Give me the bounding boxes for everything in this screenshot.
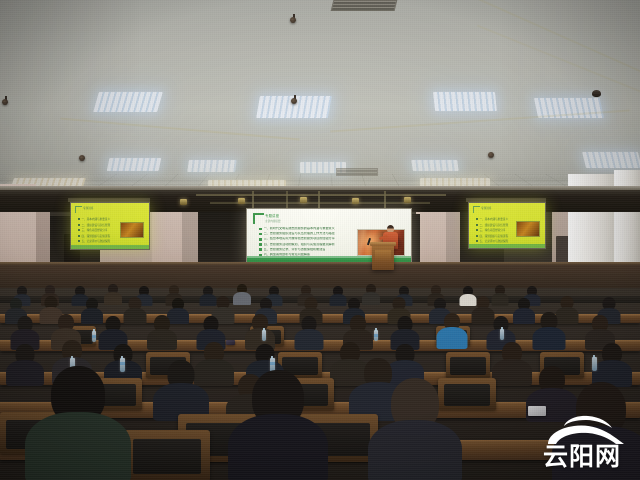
slide-subtitle: 主讲内容提要 [265, 219, 281, 223]
stage-light-fixture [404, 197, 411, 203]
ceiling-air-vent [331, 0, 398, 11]
right-slide-line: 一、基本内涵与重要意义 [480, 217, 509, 221]
ceiling-camera-icon [592, 90, 601, 97]
stage-light-fixture [238, 198, 245, 204]
truss-beam [286, 191, 288, 209]
bullet-marker [476, 224, 478, 226]
slide-bullet: 五、志愿服务记录、评价与激励保障机制建设 [264, 248, 326, 252]
wooden-podium [372, 242, 394, 270]
left-slide-logo-icon [75, 206, 82, 213]
ceiling-light-panel [93, 92, 163, 112]
slide-bullet: 三、结合本地实际开展特色志愿服务项目的经验分享 [264, 237, 335, 241]
audience-member [534, 312, 564, 348]
bullet-marker [476, 229, 478, 231]
bullet-marker [78, 218, 80, 220]
right-slide-footer [469, 244, 545, 248]
left-slide-line: 五、记录评价与激励保障 [82, 239, 111, 243]
bullet-marker [259, 243, 262, 246]
audience-member [362, 284, 379, 304]
right-slide-logo-icon [473, 206, 480, 213]
audience-member [438, 313, 466, 348]
ceiling-rail [60, 118, 299, 141]
ceiling-light-panel [582, 152, 640, 168]
bullet-marker [78, 229, 80, 231]
smartphone[interactable] [528, 406, 546, 416]
stage-light-fixture [352, 198, 359, 204]
left-slide-photo [120, 222, 144, 238]
right-slide-line: 三、特色项目经验分享 [480, 228, 506, 232]
ceiling-light-panel [411, 160, 459, 171]
audience-member [232, 370, 324, 480]
green-corner-bracket-logo-icon [253, 213, 264, 224]
audience-member [556, 382, 640, 480]
right-side-projection-screen: 专题讲座 一、基本内涵与重要意义 二、组织建设与队伍管理 三、特色项目经验分享 … [468, 202, 546, 249]
left-slide-title: 专题讲座 [83, 206, 93, 210]
truss-beam [196, 194, 446, 196]
audience-member [104, 284, 121, 304]
conference-hall-photo: 专题讲座 一、基本内涵与重要意义 二、组织建设与队伍管理 三、特色项目经验分享 … [0, 0, 640, 480]
audience-member [372, 378, 458, 480]
sprinkler-head-icon [291, 98, 297, 104]
ceiling-rail [330, 110, 629, 133]
bullet-marker [259, 238, 262, 241]
left-slide-line: 三、特色项目经验分享 [82, 228, 108, 232]
water-bottle[interactable] [92, 331, 96, 342]
right-slide-photo [516, 221, 540, 237]
water-bottle[interactable] [374, 330, 378, 341]
suspended-tile-ceiling [0, 0, 640, 196]
ceiling-light-panel [433, 92, 497, 111]
audience-member [82, 298, 102, 322]
sprinkler-head-icon [79, 155, 85, 161]
audience-member [148, 315, 175, 348]
right-slide-line: 五、记录评价与激励保障 [480, 239, 509, 243]
truss-beam [252, 191, 254, 209]
slide-bullet: 四、志愿服务活动的策划、组织与实施流程要点解析 [264, 243, 335, 247]
left-slide-footer [71, 245, 149, 249]
bullet-marker [78, 224, 80, 226]
ceiling-rail [449, 0, 640, 77]
right-slide-line: 二、组织建设与队伍管理 [480, 223, 509, 227]
slide-title: 专题讲座 [265, 213, 279, 218]
bullet-marker [78, 235, 80, 237]
chair[interactable] [446, 352, 490, 378]
water-bottle[interactable] [500, 329, 504, 340]
right-slide-title: 专题讲座 [481, 206, 491, 210]
bullet-marker [259, 248, 262, 251]
bullet-marker [259, 228, 262, 231]
stage-light-fixture [300, 197, 307, 203]
slide-bullet: 二、志愿服务组织建设与队伍管理的工作方法与路径 [264, 232, 335, 236]
bullet-marker [259, 233, 262, 236]
stage-front-edge [0, 262, 640, 265]
water-bottle[interactable] [592, 357, 597, 371]
right-slide-line: 四、策划组织与实施流程 [480, 234, 509, 238]
left-side-projection-screen: 专题讲座 一、基本内涵与重要意义 二、组织建设与队伍管理 三、特色项目经验分享 … [70, 202, 150, 250]
audience-member [492, 285, 508, 304]
left-slide-line: 四、策划组织与实施流程 [82, 234, 111, 238]
audience-member [296, 316, 322, 348]
stage-light-fixture [180, 199, 187, 205]
ceiling-light-panel [187, 160, 237, 172]
smartphone[interactable] [226, 340, 235, 345]
chair[interactable] [124, 430, 210, 480]
left-slide-line: 二、组织建设与队伍管理 [82, 223, 111, 227]
audience-member [594, 343, 630, 384]
audience-member [514, 298, 534, 322]
truss-beam [318, 191, 320, 209]
sprinkler-head-icon [488, 152, 494, 158]
water-bottle[interactable] [262, 330, 266, 341]
left-slide-line: 一、基本内涵与重要意义 [82, 217, 111, 221]
bullet-marker [476, 240, 478, 242]
ceiling-air-vent [336, 168, 378, 176]
ceiling-light-panel [107, 158, 162, 171]
bullet-marker [78, 240, 80, 242]
sprinkler-head-icon [2, 99, 8, 105]
audience-member [246, 314, 273, 348]
audience-member [234, 284, 250, 304]
audience-member [124, 297, 145, 322]
bullet-marker [476, 235, 478, 237]
sprinkler-head-icon [290, 17, 296, 23]
slide-bullet: 一、新时代文明实践志愿服务的基本内涵与重要意义 [264, 227, 335, 231]
truss-beam [384, 191, 386, 209]
bullet-marker [476, 218, 478, 220]
audience-member [156, 360, 206, 418]
audience-member [494, 342, 530, 384]
audience-member [30, 366, 126, 480]
